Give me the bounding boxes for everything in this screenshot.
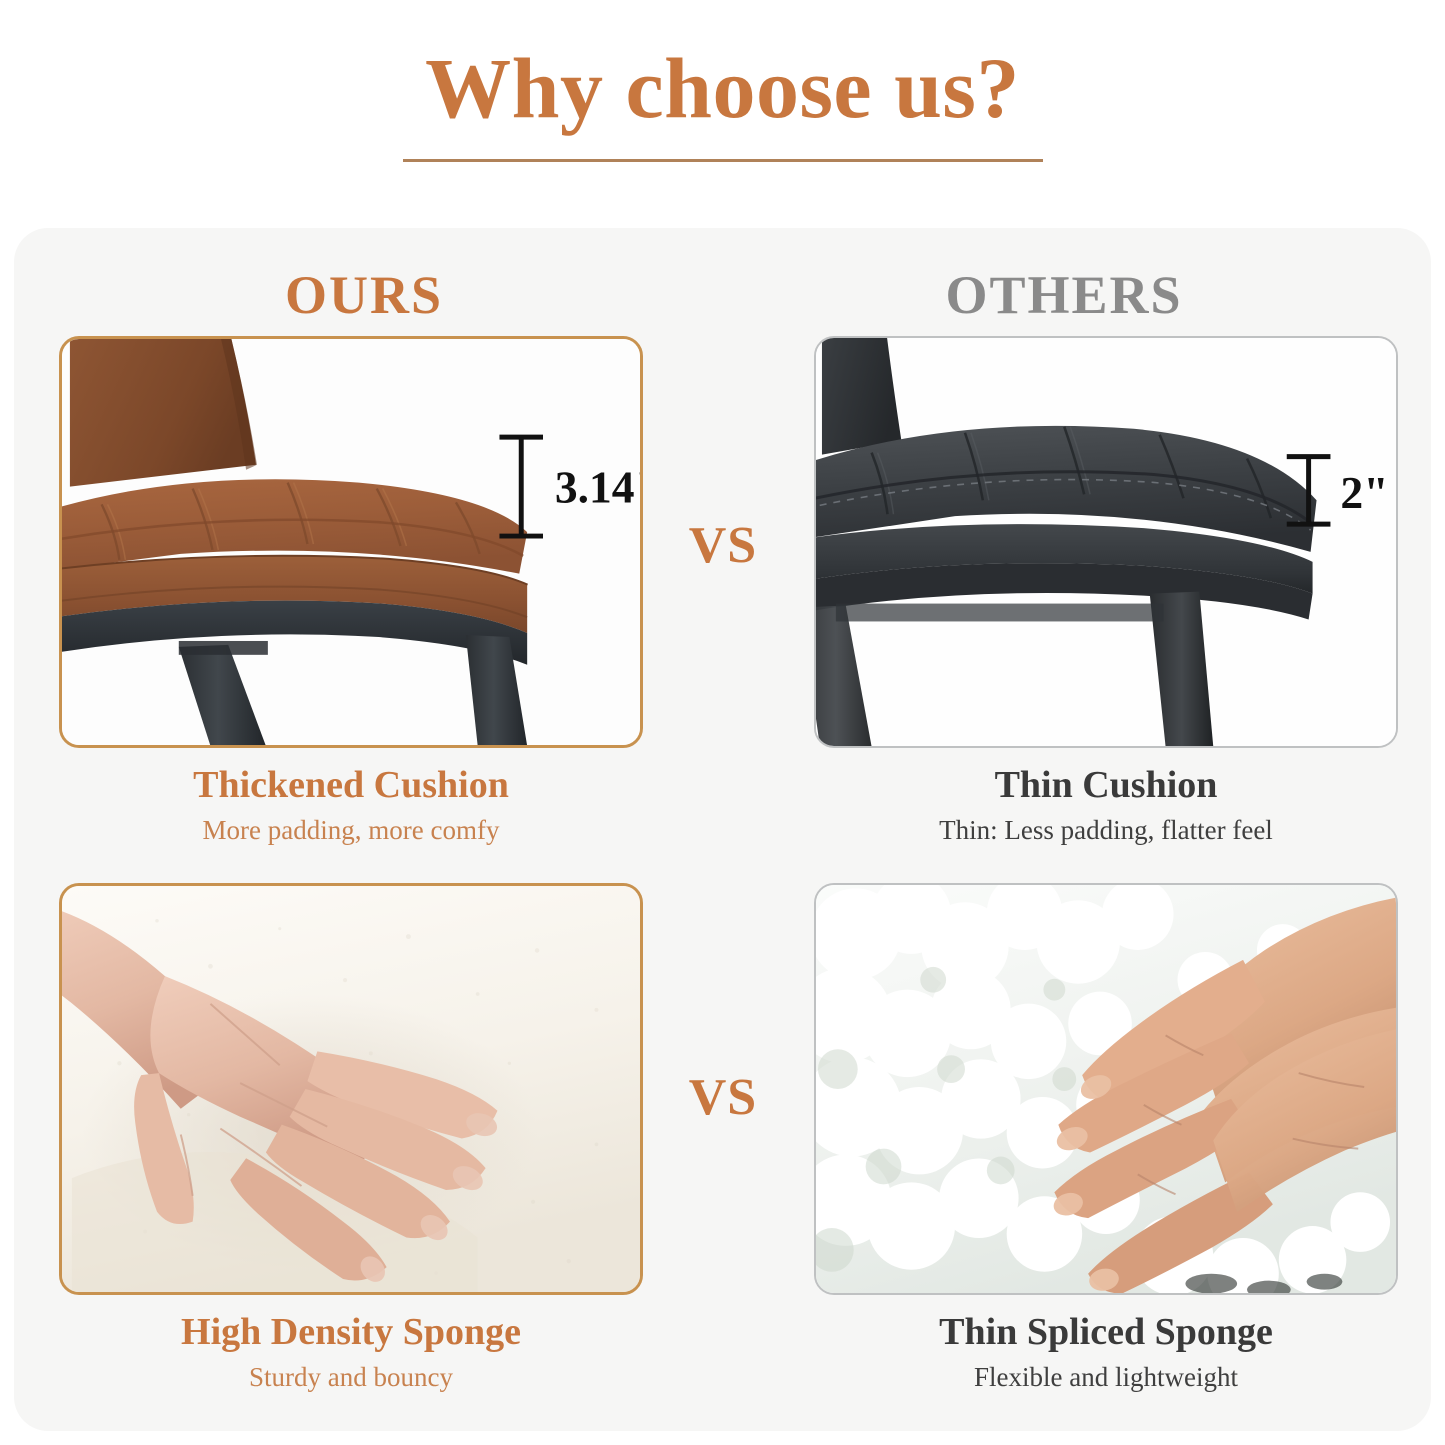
caption-subtitle-ours-cushion: More padding, more comfy <box>59 808 643 848</box>
caption-title-ours-cushion: Thickened Cushion <box>59 762 643 808</box>
dimension-label-others: 2" <box>1340 467 1388 518</box>
infographic-root: Why choose us? OURS OTHERS <box>0 0 1445 1445</box>
cell-others-sponge: Thin Spliced Sponge Flexible and lightwe… <box>814 883 1398 1403</box>
hand-on-fiber-fill-illustration <box>816 885 1396 1293</box>
image-ours-sponge <box>59 883 643 1295</box>
caption-title-others-sponge: Thin Spliced Sponge <box>814 1309 1398 1355</box>
caption-subtitle-others-sponge: Flexible and lightweight <box>814 1355 1398 1395</box>
comparison-panel: OURS OTHERS <box>14 228 1431 1431</box>
vs-divider-cushion: VS <box>643 516 803 575</box>
caption-ours-sponge: High Density Sponge Sturdy and bouncy <box>59 1295 643 1396</box>
column-heading-others: OTHERS <box>714 264 1414 326</box>
cell-others-cushion: 2" Thin Cushion Thin: Less padding, flat… <box>814 336 1398 856</box>
cell-ours-cushion: 3.14" Thickened Cushion More padding, mo… <box>59 336 643 856</box>
cell-ours-sponge: High Density Sponge Sturdy and bouncy <box>59 883 643 1403</box>
column-heading-ours: OURS <box>14 264 714 326</box>
brown-cushion-illustration: 3.14" <box>62 339 640 745</box>
black-cushion-illustration: 2" <box>816 338 1396 746</box>
image-others-sponge <box>814 883 1398 1295</box>
page-title: Why choose us? <box>425 42 1020 135</box>
caption-title-ours-sponge: High Density Sponge <box>59 1309 643 1355</box>
vs-divider-sponge: VS <box>643 1068 803 1127</box>
caption-subtitle-others-cushion: Thin: Less padding, flatter feel <box>814 808 1398 848</box>
image-ours-cushion: 3.14" <box>59 336 643 748</box>
hand-on-foam-illustration <box>62 886 640 1292</box>
image-others-cushion: 2" <box>814 336 1398 748</box>
dimension-label-ours: 3.14" <box>555 461 640 512</box>
comparison-row-sponge: High Density Sponge Sturdy and bouncy <box>14 883 1431 1403</box>
caption-subtitle-ours-sponge: Sturdy and bouncy <box>59 1355 643 1395</box>
comparison-row-cushion: 3.14" Thickened Cushion More padding, mo… <box>14 336 1431 856</box>
caption-ours-cushion: Thickened Cushion More padding, more com… <box>59 748 643 849</box>
header: Why choose us? <box>0 0 1445 226</box>
caption-title-others-cushion: Thin Cushion <box>814 762 1398 808</box>
caption-others-cushion: Thin Cushion Thin: Less padding, flatter… <box>814 748 1398 849</box>
title-divider <box>403 159 1043 162</box>
caption-others-sponge: Thin Spliced Sponge Flexible and lightwe… <box>814 1295 1398 1396</box>
